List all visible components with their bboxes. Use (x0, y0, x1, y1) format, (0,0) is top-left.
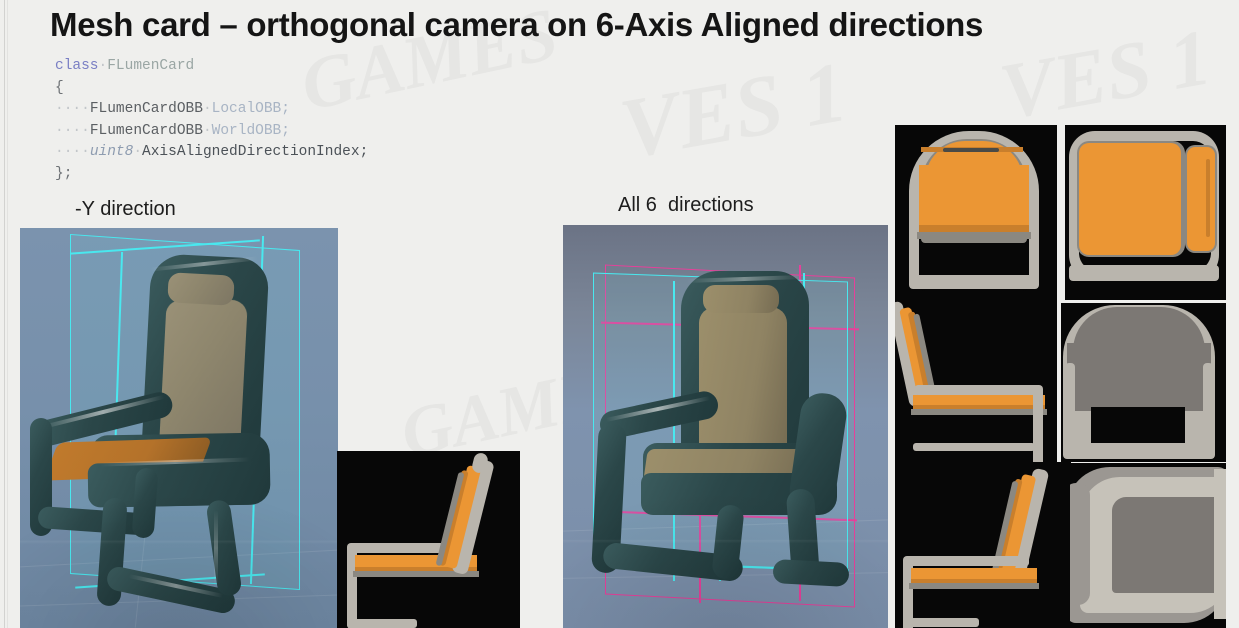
slide-left-rule-1 (4, 0, 5, 628)
left-viewport[interactable] (20, 228, 338, 628)
mesh-card-minus-y[interactable] (337, 451, 520, 628)
code-token: FLumenCard (107, 58, 194, 74)
code-block: class·FLumenCard{····FLumenCardOBB·Local… (55, 56, 368, 185)
code-token: }; (55, 166, 72, 182)
code-token: · (203, 101, 212, 117)
slide-left-rule-2 (7, 0, 8, 628)
watermark-2: VES 1 (613, 41, 854, 179)
code-token: ···· (55, 123, 90, 139)
code-token: WorldOBB; (212, 123, 290, 139)
code-token: FLumenCardOBB (90, 123, 203, 139)
watermark-4: VES 1 (994, 12, 1218, 138)
slide-title: Mesh card – orthogonal camera on 6-Axis … (50, 6, 983, 44)
mesh-card-side-left[interactable] (895, 297, 1057, 462)
code-token: LocalOBB; (212, 101, 290, 117)
code-token: · (99, 58, 108, 74)
right-viewport[interactable] (563, 225, 888, 628)
caption-right-viewport: All 6 directions (618, 194, 754, 217)
code-token: · (203, 123, 212, 139)
code-token: · (133, 144, 142, 160)
code-token: AxisAlignedDirectionIndex; (142, 144, 368, 160)
mesh-card-bottom[interactable] (1070, 463, 1226, 628)
code-token: ···· (55, 144, 90, 160)
code-token: uint8 (90, 144, 134, 160)
code-token: ···· (55, 101, 90, 117)
code-line: ····uint8·AxisAlignedDirectionIndex; (55, 142, 368, 164)
code-token: class (55, 58, 99, 74)
code-line: ····FLumenCardOBB·LocalOBB; (55, 99, 368, 121)
code-line: }; (55, 164, 368, 186)
slide-stage: GAMES VES 1 GAMES VES 1 Mesh card – orth… (0, 0, 1239, 628)
code-token: { (55, 80, 64, 96)
mesh-card-grid (895, 125, 1226, 628)
mesh-card-top[interactable] (1065, 125, 1226, 300)
mesh-card-front[interactable] (895, 125, 1057, 297)
code-token: FLumenCardOBB (90, 101, 203, 117)
mesh-card-side-right[interactable] (895, 462, 1071, 628)
caption-left-viewport: -Y direction (75, 198, 176, 221)
code-line: class·FLumenCard (55, 56, 368, 78)
code-line: { (55, 78, 368, 100)
mesh-card-back[interactable] (1061, 303, 1226, 462)
code-line: ····FLumenCardOBB·WorldOBB; (55, 121, 368, 143)
floor-grid-line (20, 594, 338, 606)
